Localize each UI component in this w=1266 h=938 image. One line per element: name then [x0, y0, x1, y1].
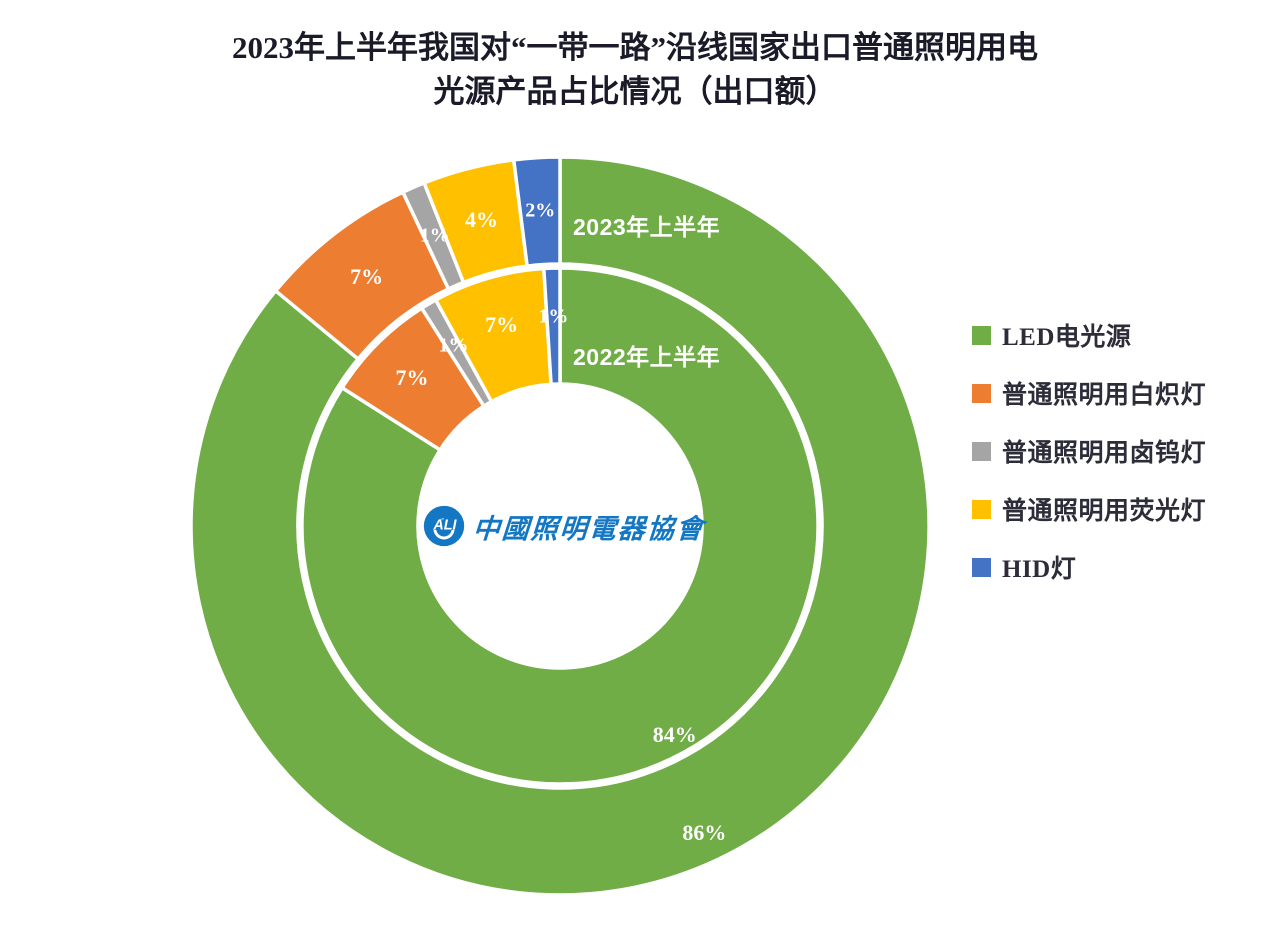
legend-swatch-icon [972, 442, 991, 461]
legend-swatch-icon [972, 500, 991, 519]
percent-label: 1% [420, 225, 450, 248]
legend-item[interactable]: 普通照明用白炽灯 [972, 364, 1262, 422]
legend-item-label: 普通照明用卤钨灯 [1002, 433, 1206, 469]
legend-item-label: 普通照明用白炽灯 [1002, 375, 1206, 411]
legend-item[interactable]: 普通照明用卤钨灯 [972, 422, 1262, 480]
ring-label-2023: 2023年上半年 [573, 208, 720, 242]
percent-label: 1% [438, 334, 468, 357]
percent-label: 84% [653, 722, 697, 748]
legend-swatch-icon [972, 558, 991, 577]
legend-swatch-icon [972, 384, 991, 403]
ring-label-2022: 2022年上半年 [573, 338, 720, 372]
legend-item[interactable]: 普通照明用荧光灯 [972, 480, 1262, 538]
legend-item-label: 普通照明用荧光灯 [1002, 491, 1206, 527]
percent-label: 7% [485, 312, 518, 338]
legend-item-label: LED电光源 [1002, 317, 1131, 353]
percent-label: 4% [465, 207, 498, 233]
percent-label: 86% [682, 820, 726, 846]
legend-item[interactable]: HID灯 [972, 538, 1262, 596]
donut-ring-inner-2022 [302, 268, 818, 784]
percent-label: 1% [538, 305, 568, 328]
percent-label: 2% [525, 200, 555, 223]
legend-swatch-icon [972, 326, 991, 345]
donut-chart: 86%7%1%4%2%84%7%1%7%1% 2023年上半年 2022年上半年… [0, 0, 960, 938]
legend-item[interactable]: LED电光源 [972, 306, 1262, 364]
legend-item-label: HID灯 [1002, 549, 1076, 585]
percent-label: 7% [350, 264, 383, 290]
percent-label: 7% [396, 365, 429, 391]
legend: LED电光源普通照明用白炽灯普通照明用卤钨灯普通照明用荧光灯HID灯 [972, 306, 1262, 596]
donut-chart-svg [0, 0, 960, 938]
